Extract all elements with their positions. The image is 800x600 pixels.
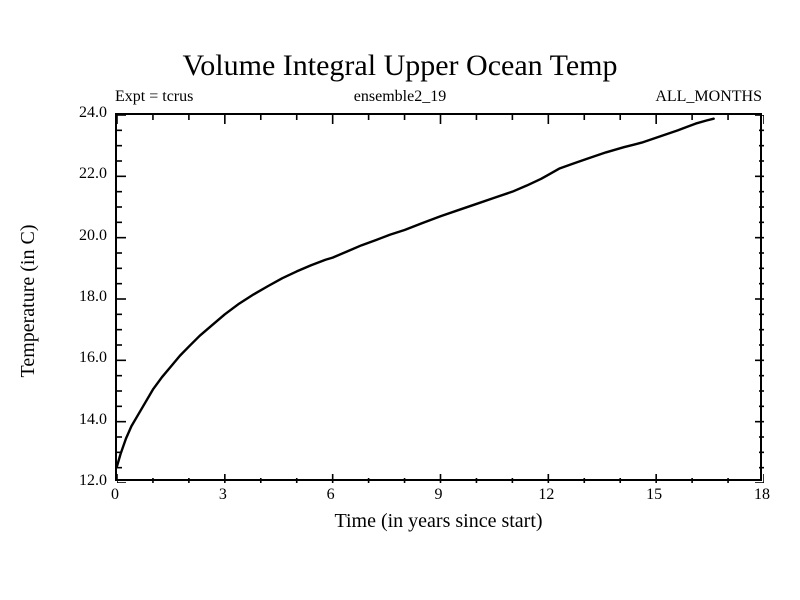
y-tick-label: 14.0: [47, 412, 107, 428]
x-axis-tick-labels: 0369121518: [115, 487, 762, 509]
x-tick-label: 9: [409, 487, 469, 503]
x-tick-label: 18: [732, 487, 792, 503]
plot-area: [115, 113, 762, 481]
y-tick-label: 24.0: [47, 105, 107, 121]
chart-page: Volume Integral Upper Ocean Temp Expt = …: [0, 0, 800, 600]
x-tick-label: 15: [624, 487, 684, 503]
x-tick-label: 6: [301, 487, 361, 503]
x-axis-title: Time (in years since start): [115, 509, 762, 533]
plot-svg: [117, 115, 764, 483]
y-tick-label: 16.0: [47, 350, 107, 366]
x-tick-label: 12: [516, 487, 576, 503]
y-tick-label: 18.0: [47, 289, 107, 305]
data-series-line: [117, 119, 714, 466]
subtitle-months: ALL_MONTHS: [655, 88, 762, 106]
x-tick-label: 0: [85, 487, 145, 503]
x-tick-label: 3: [193, 487, 253, 503]
y-axis-title: Temperature (in C): [17, 201, 39, 401]
y-axis-tick-labels: 12.014.016.018.020.022.024.0: [43, 113, 107, 481]
axis-ticks: [117, 115, 764, 483]
y-tick-label: 22.0: [47, 166, 107, 182]
page-title: Volume Integral Upper Ocean Temp: [0, 50, 800, 82]
y-tick-label: 20.0: [47, 228, 107, 244]
